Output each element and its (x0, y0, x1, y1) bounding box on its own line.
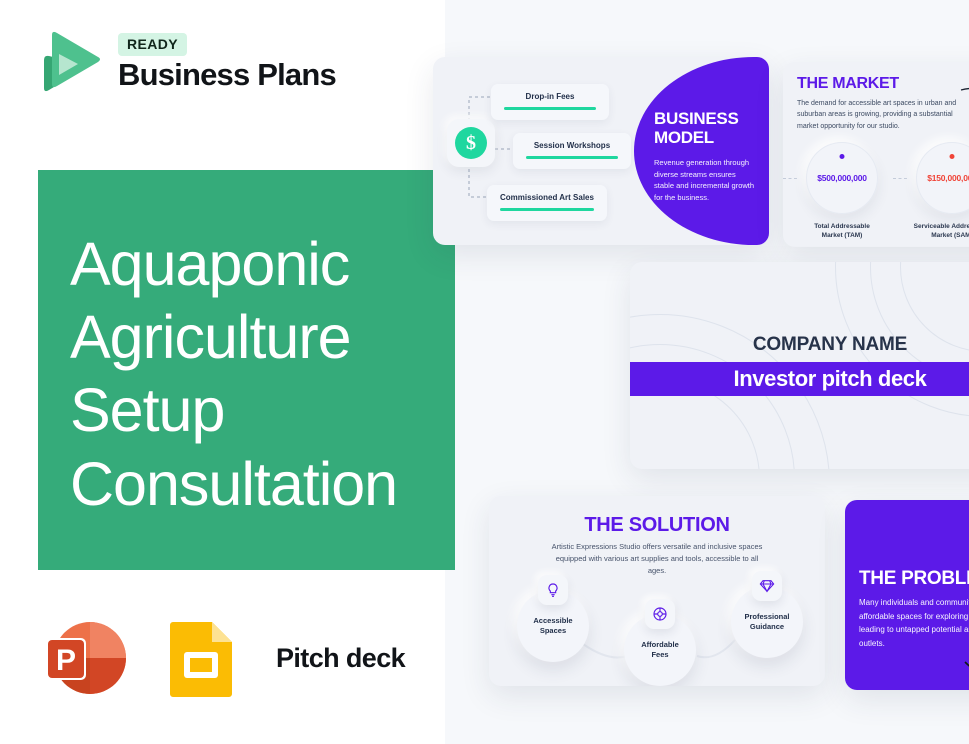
revenue-item-label: Commissioned Art Sales (500, 193, 594, 202)
metric-caption: Serviceable Addressable Market (SAM) (903, 222, 969, 241)
metric-caption: Total Addressable Market (TAM) (793, 222, 891, 241)
hero-block: Aquaponic Agriculture Setup Consultation (38, 170, 455, 570)
diamond-icon (752, 571, 782, 601)
underline-bar (526, 156, 618, 159)
slide-the-market[interactable]: THE MARKET The demand for accessible art… (783, 62, 969, 247)
google-slides-icon (156, 612, 248, 704)
metric-value: $500,000,000 (817, 173, 867, 183)
revenue-item[interactable]: Drop-in Fees (491, 84, 609, 120)
revenue-item-label: Session Workshops (526, 141, 618, 150)
solution-node[interactable]: Affordable Fees (624, 614, 696, 686)
brand-name: Business Plans (118, 59, 336, 92)
problem-body: Many individuals and communities lack ac… (859, 596, 969, 650)
curved-arrow-icon (959, 80, 969, 133)
market-title: THE MARKET (797, 75, 899, 93)
format-label: Pitch deck (276, 643, 405, 674)
metric-dot (840, 154, 845, 159)
squiggle-icon (963, 658, 969, 689)
slide-the-solution[interactable]: THE SOLUTION Artistic Expressions Studio… (489, 496, 825, 686)
problem-title: THE PROBLEM (859, 568, 969, 590)
metric-value: $150,000,000 (927, 173, 969, 183)
solution-body: Artistic Expressions Studio offers versa… (551, 541, 763, 577)
dollar-icon: $ (447, 119, 495, 167)
business-model-body: Revenue generation through diverse strea… (654, 157, 757, 204)
revenue-item[interactable]: Session Workshops (513, 133, 631, 169)
powerpoint-icon: P (40, 612, 132, 704)
underline-bar (504, 107, 596, 110)
target-circle-icon (645, 599, 675, 629)
business-model-heading: BUSINESS MODEL (654, 109, 739, 147)
play-triangle-logo-icon (38, 30, 104, 94)
format-row: P Pitch deck (40, 612, 405, 704)
solution-title: THE SOLUTION (489, 514, 825, 537)
pitch-deck-bar: Investor pitch deck (630, 362, 969, 396)
brand-logo: READY Business Plans (38, 30, 336, 94)
slide-business-model[interactable]: $ Drop-in Fees Session Workshops Commiss… (433, 57, 769, 245)
market-body: The demand for accessible art spaces in … (797, 98, 959, 132)
page-title: Aquaponic Agriculture Setup Consultation (70, 228, 397, 521)
slide-the-problem[interactable]: THE PROBLEM Many individuals and communi… (845, 500, 969, 690)
revenue-item[interactable]: Commissioned Art Sales (487, 185, 607, 221)
solution-node[interactable]: Professional Guidance (731, 586, 803, 658)
metric-dot (950, 154, 955, 159)
lightbulb-icon (538, 575, 568, 605)
slide-company-name[interactable]: COMPANY NAME Investor pitch deck (630, 262, 969, 469)
market-metric: $500,000,000 Total Addressable Market (T… (793, 142, 891, 241)
revenue-item-label: Drop-in Fees (504, 92, 596, 101)
market-metric: $150,000,000 Serviceable Addressable Mar… (903, 142, 969, 241)
pitch-deck-subtitle: Investor pitch deck (734, 366, 927, 392)
company-name: COMPANY NAME (630, 334, 969, 356)
poster-canvas: READY Business Plans Aquaponic Agricultu… (0, 0, 969, 744)
svg-text:P: P (56, 644, 76, 677)
underline-bar (500, 208, 594, 211)
ready-badge: READY (118, 33, 187, 56)
solution-node[interactable]: Accessible Spaces (517, 590, 589, 662)
